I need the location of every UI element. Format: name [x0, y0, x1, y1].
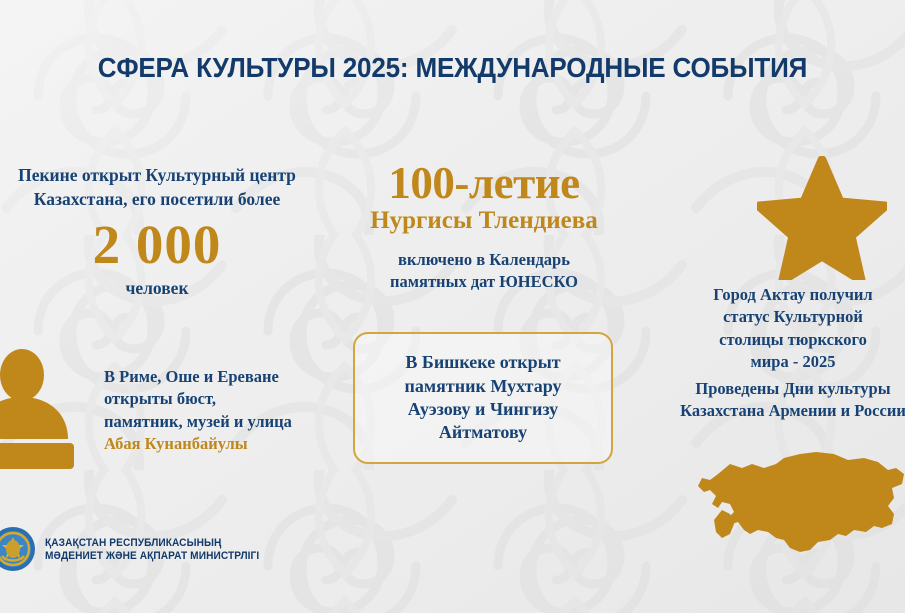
beijing-lead-line-2: Казахстана, его посетили более [0, 187, 322, 211]
abai-line-3: памятник, музей и улица [104, 411, 332, 433]
ministry-footer: ҚАЗАҚСТАН РЕСПУБЛИКАСЫНЫҢ МӘДЕНИЕТ ЖӘНЕ … [0, 526, 278, 572]
aktau-city-name: Актау [760, 285, 805, 304]
bishkek-line-2: памятник Мухтару [405, 375, 562, 398]
culture-days-line-2: Казахстана Армении и России [655, 400, 905, 422]
bishkek-monument-card: В Бишкеке открыт памятник Мухтару Ауэзов… [353, 332, 613, 464]
aktau-line-1: Город Актау получил [660, 284, 905, 306]
bishkek-card-text: В Бишкеке открыт памятник Мухтару Ауэзов… [395, 351, 572, 445]
tlendiev-anniversary-number: 100-летие [336, 160, 632, 207]
culture-days-line-1: Проведены Дни культуры [655, 378, 905, 400]
beijing-cultural-center-block: Пекине открыт Культурный центр Казахстан… [0, 163, 322, 299]
tlendiev-unesco-note: включено в Календарь памятных дат ЮНЕСКО [336, 249, 632, 293]
beijing-visitors-unit: человек [0, 278, 322, 299]
bishkek-line-1: В Бишкеке открыт [405, 351, 562, 374]
tlendiev-note-line-2: памятных дат ЮНЕСКО [336, 271, 632, 293]
abai-monuments-block: В Риме, Оше и Ереване открыты бюст, памя… [104, 366, 332, 456]
kazakhstan-map-icon [688, 452, 905, 570]
beijing-lead-text: Пекине открыт Культурный центр Казахстан… [0, 163, 322, 211]
beijing-visitors-number: 2 000 [0, 217, 322, 272]
aktau-line-3: столицы тюркского [660, 329, 905, 351]
bishkek-line-4: Айтматову [405, 421, 562, 444]
title-bar: СФЕРА КУЛЬТУРЫ 2025: МЕЖДУНАРОДНЫЕ СОБЫТ… [0, 52, 905, 84]
culture-days-block: Проведены Дни культуры Казахстана Армени… [655, 378, 905, 423]
abai-line-2: открыты бюст, [104, 388, 332, 410]
abai-name-highlight: Абая Кунанбайулы [104, 433, 332, 455]
tlendiev-anniversary-block: 100-летие Нургисы Тлендиева включено в К… [336, 160, 632, 293]
beijing-lead-line-1: Пекине открыт Культурный центр [0, 163, 322, 187]
ministry-line-1: ҚАЗАҚСТАН РЕСПУБЛИКАСЫНЫҢ [45, 537, 259, 549]
aktau-line-2: статус Культурной [660, 306, 905, 328]
aktau-cultural-capital-block: Город Актау получил статус Культурной ст… [660, 284, 905, 374]
abai-line-1: В Риме, Оше и Ереване [104, 366, 332, 388]
page-title: СФЕРА КУЛЬТУРЫ 2025: МЕЖДУНАРОДНЫЕ СОБЫТ… [98, 52, 807, 84]
tlendiev-name: Нургисы Тлендиева [336, 207, 632, 235]
kazakhstan-state-emblem-icon [0, 526, 36, 572]
infographic-poster: СФЕРА КУЛЬТУРЫ 2025: МЕЖДУНАРОДНЫЕ СОБЫТ… [0, 0, 905, 613]
gold-star-icon [757, 156, 887, 280]
bishkek-line-3: Ауэзову и Чингизу [405, 398, 562, 421]
tlendiev-note-line-1: включено в Календарь [336, 249, 632, 271]
aktau-line-1-suffix: получил [805, 285, 872, 304]
aktau-line-1-prefix: Город [713, 285, 760, 304]
bust-monument-icon [0, 347, 84, 469]
aktau-line-4: мира - 2025 [660, 351, 905, 373]
ministry-name: ҚАЗАҚСТАН РЕСПУБЛИКАСЫНЫҢ МӘДЕНИЕТ ЖӘНЕ … [45, 537, 278, 562]
ministry-line-2: МӘДЕНИЕТ ЖӘНЕ АҚПАРАТ МИНИСТРЛІГІ [45, 550, 259, 562]
